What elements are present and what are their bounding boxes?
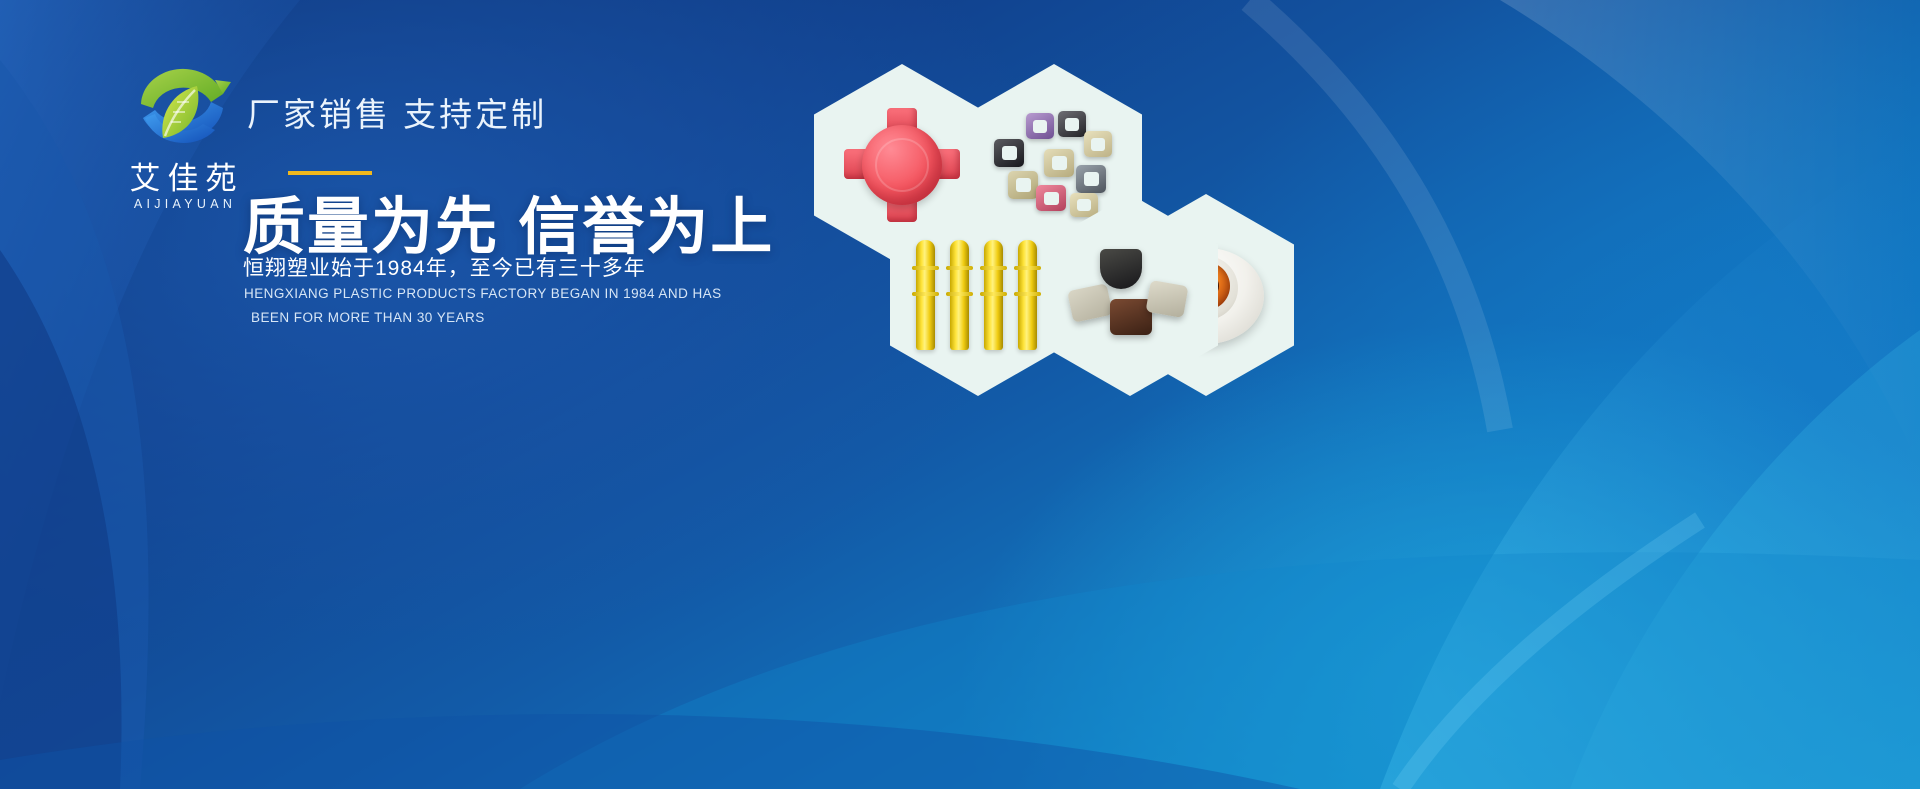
banner-kicker: 厂家销售 支持定制 xyxy=(247,88,547,136)
banner-content: 艾佳苑 AIJIAYUAN 厂家销售 支持定制 质量为先 信誉为上 恒翔塑业始于… xyxy=(0,0,820,789)
banner-subline: 恒翔塑业始于1984年，至今已有三十多年 xyxy=(243,252,646,282)
leaf-swoosh-logo-icon xyxy=(119,52,247,160)
banner-english-line-1: HENGXIANG PLASTIC PRODUCTS FACTORY BEGAN… xyxy=(244,286,722,301)
promo-banner: 艾佳苑 AIJIAYUAN 厂家销售 支持定制 质量为先 信誉为上 恒翔塑业始于… xyxy=(0,0,1920,789)
logo-svg xyxy=(119,52,247,160)
product-hexagon-cluster xyxy=(800,40,1320,400)
gold-divider xyxy=(288,171,372,175)
banner-english-line-2: BEEN FOR MORE THAN 30 YEARS xyxy=(251,310,485,325)
